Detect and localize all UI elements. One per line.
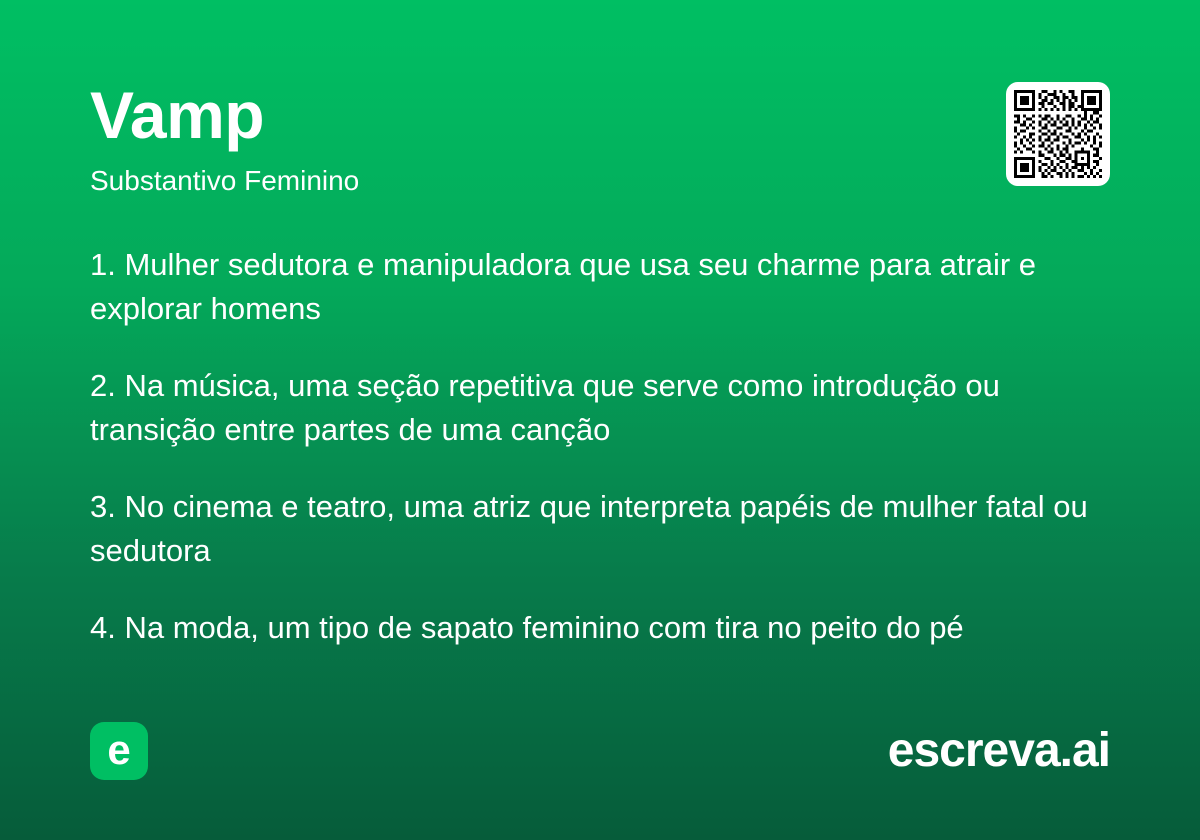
card-header: Vamp Substantivo Feminino	[90, 82, 1110, 198]
definitions-list: 1. Mulher sedutora e manipuladora que us…	[90, 243, 1115, 650]
brand-logo-icon: e	[90, 722, 148, 780]
definition-item: 4. Na moda, um tipo de sapato feminino c…	[90, 606, 1115, 650]
definition-item: 1. Mulher sedutora e manipuladora que us…	[90, 243, 1115, 331]
qr-code-icon[interactable]	[1006, 82, 1110, 186]
headings-group: Vamp Substantivo Feminino	[90, 82, 359, 198]
definition-item: 3. No cinema e teatro, uma atriz que int…	[90, 485, 1115, 573]
page-title: Vamp	[90, 82, 359, 148]
card-footer: e escreva.ai	[90, 722, 1110, 780]
dictionary-card: Vamp Substantivo Feminino	[0, 0, 1200, 840]
part-of-speech-label: Substantivo Feminino	[90, 164, 359, 198]
brand-wordmark: escreva.ai	[888, 727, 1110, 775]
definition-item: 2. Na música, uma seção repetitiva que s…	[90, 364, 1115, 452]
brand-logo-letter: e	[107, 729, 130, 771]
